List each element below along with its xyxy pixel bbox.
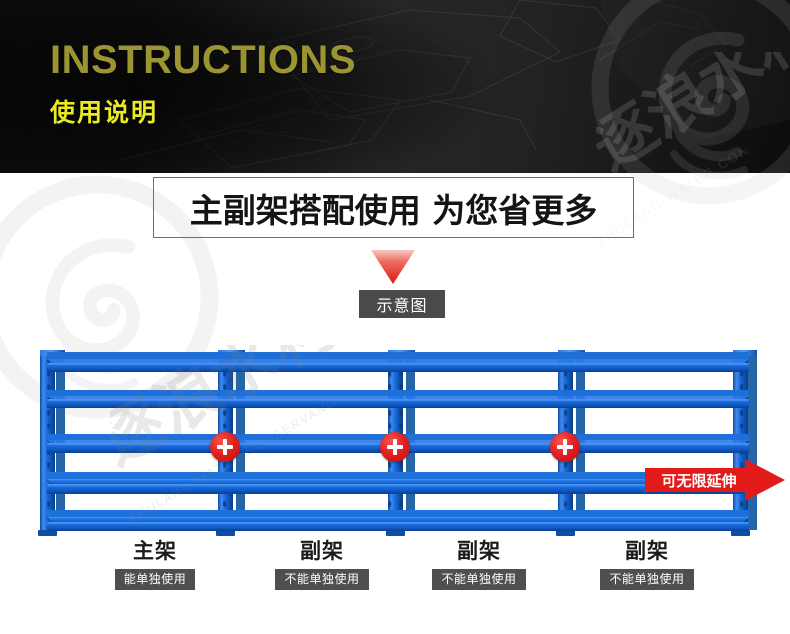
rack-label-group-2: 副架 不能单独使用 bbox=[247, 538, 397, 590]
rack-label-title-2: 副架 bbox=[247, 538, 397, 564]
headline-box: 主副架搭配使用 为您省更多 bbox=[153, 177, 634, 238]
schematic-label-text: 示意图 bbox=[376, 292, 427, 316]
page-title-chinese: 使用说明 bbox=[50, 93, 158, 129]
page-title-english: INSTRUCTIONS bbox=[50, 38, 356, 83]
rack-shelf-level-2 bbox=[47, 390, 749, 408]
schematic-label-chip: 示意图 bbox=[359, 290, 445, 318]
down-triangle-arrow-icon bbox=[371, 250, 415, 284]
page-root: INSTRUCTIONS 使用说明 逐浪水利 ZHULANG WATER CON… bbox=[0, 0, 790, 634]
plus-badge-2 bbox=[380, 432, 410, 462]
rack-label-group-1: 主架 能单独使用 bbox=[80, 538, 230, 590]
headline-text: 主副架搭配使用 为您省更多 bbox=[154, 178, 633, 237]
rack-label-title-1: 主架 bbox=[80, 538, 230, 564]
rack-shelf-level-1 bbox=[47, 352, 749, 372]
header-banner: INSTRUCTIONS 使用说明 bbox=[0, 0, 790, 173]
rack-label-chip-1: 能单独使用 bbox=[115, 569, 196, 590]
plus-badge-3 bbox=[550, 432, 580, 462]
rack-label-title-3: 副架 bbox=[404, 538, 554, 564]
rack-label-chip-3: 不能单独使用 bbox=[432, 569, 525, 590]
header-vignette bbox=[0, 0, 790, 173]
plus-badge-1 bbox=[210, 432, 240, 462]
rack-label-chip-2: 不能单独使用 bbox=[275, 569, 368, 590]
rack-label-group-4: 副架 不能单独使用 bbox=[572, 538, 722, 590]
extend-arrow-label: 可无限延伸 bbox=[651, 469, 747, 491]
rack-shelf-level-5 bbox=[47, 510, 749, 531]
rack-label-group-3: 副架 不能单独使用 bbox=[404, 538, 554, 590]
rack-label-title-4: 副架 bbox=[572, 538, 722, 564]
rack-label-chip-4: 不能单独使用 bbox=[600, 569, 693, 590]
rack-shelf-level-4 bbox=[47, 472, 749, 494]
